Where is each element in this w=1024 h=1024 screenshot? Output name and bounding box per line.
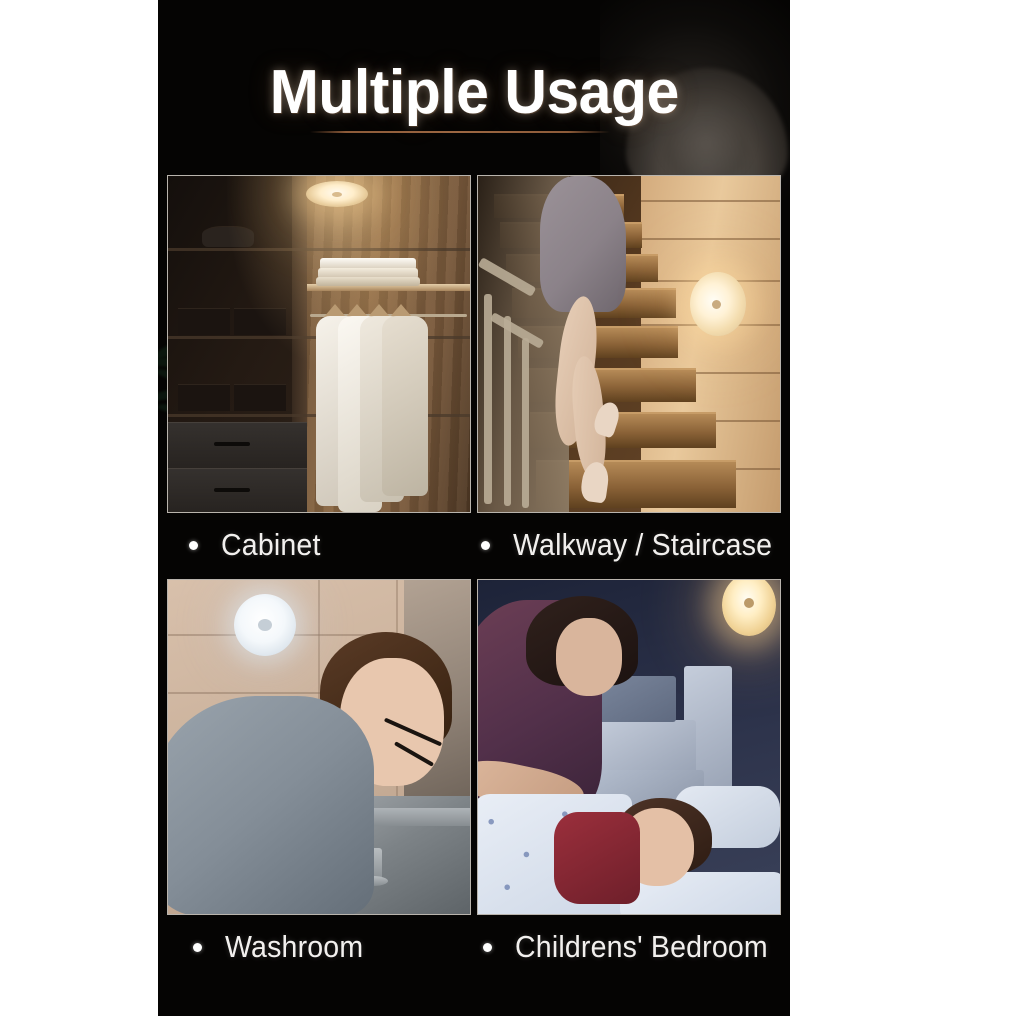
title-block: Multiple Usage [158, 62, 790, 124]
label-staircase: Walkway / Staircase [481, 513, 790, 577]
usage-cell-washroom: Washroom [167, 579, 471, 979]
usage-grid: Cabinet [167, 175, 781, 979]
title-underline [310, 131, 610, 133]
poster-page: Multiple Usage [0, 0, 1024, 1024]
usage-row-2: Washroom [167, 579, 781, 979]
poster-canvas: Multiple Usage [158, 0, 790, 1016]
label-text: Childrens' Bedroom [515, 929, 768, 965]
label-text: Walkway / Staircase [513, 527, 772, 563]
bullet-icon [481, 541, 490, 550]
puck-light-cabinet [306, 181, 368, 207]
label-cabinet: Cabinet [189, 513, 329, 577]
photo-bedroom [477, 579, 781, 915]
photo-staircase [477, 175, 781, 513]
usage-row-1: Cabinet [167, 175, 781, 577]
puck-light-washroom [234, 594, 296, 656]
bullet-icon [189, 541, 198, 550]
usage-cell-staircase: Walkway / Staircase [477, 175, 781, 577]
bullet-icon [193, 943, 202, 952]
page-title: Multiple Usage [269, 62, 678, 124]
puck-light-staircase [690, 272, 746, 336]
photo-cabinet [167, 175, 471, 513]
label-bedroom: Childrens' Bedroom [483, 915, 790, 979]
bullet-icon [483, 943, 492, 952]
photo-washroom [167, 579, 471, 915]
label-text: Washroom [225, 929, 363, 965]
label-text: Cabinet [221, 527, 321, 563]
label-washroom: Washroom [193, 915, 375, 979]
usage-cell-bedroom: Childrens' Bedroom [477, 579, 781, 979]
usage-cell-cabinet: Cabinet [167, 175, 471, 577]
